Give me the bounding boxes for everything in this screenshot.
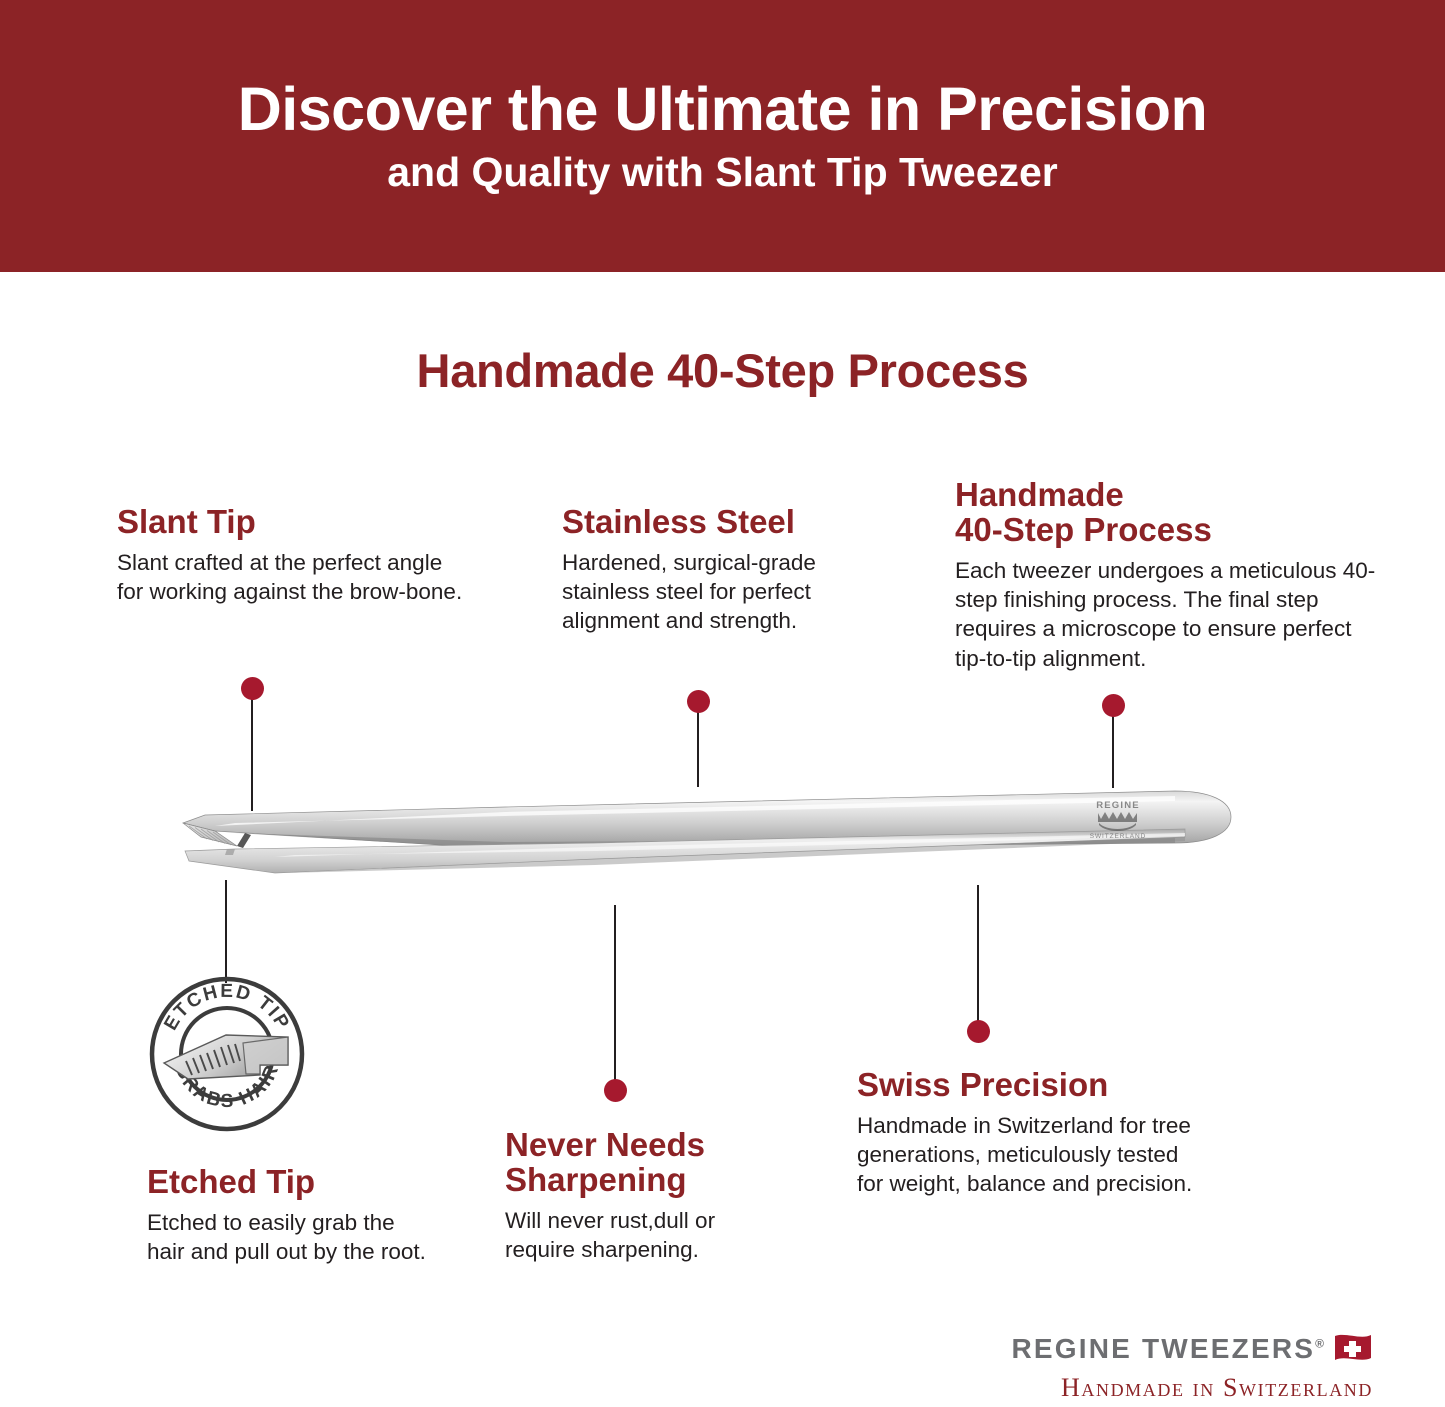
feature-title-line: Slant Tip xyxy=(117,503,256,540)
feature-handmade-40-step-process: Handmade 40-Step Process Each tweezer un… xyxy=(955,478,1385,673)
feature-title-line: Never Needs xyxy=(505,1128,785,1163)
feature-slant-tip: Slant Tip Slant crafted at the perfect a… xyxy=(117,505,467,606)
feature-title-line: 40-Step Process xyxy=(955,513,1385,548)
pointer-dot-stainless-steel xyxy=(687,690,710,713)
pointer-dot-swiss-precision xyxy=(967,1020,990,1043)
brand-logo: REGINE TWEEZERS® Handmade in Switzerland xyxy=(0,1332,1445,1403)
pointer-dot-slant-tip xyxy=(241,677,264,700)
brand-name: REGINE TWEEZERS® xyxy=(1011,1335,1324,1363)
product-image-tweezer: REGINE SWITZERLAND xyxy=(175,785,1235,895)
section-heading: Handmade 40-Step Process xyxy=(0,343,1445,398)
etched-tip-badge: ETCHED TIP GRABS HAIR xyxy=(148,975,306,1133)
brand-name-text: REGINE TWEEZERS xyxy=(1011,1333,1315,1364)
feature-slant-tip-body: Slant crafted at the perfect angle for w… xyxy=(117,548,467,607)
feature-title-line: Etched Tip xyxy=(147,1163,315,1200)
tweezer-tip-seam xyxy=(237,833,251,848)
feature-etched-tip-title: Etched Tip xyxy=(147,1165,427,1200)
header-title: Discover the Ultimate in Precision xyxy=(238,77,1207,142)
feature-title-line: Stainless Steel xyxy=(562,503,795,540)
etched-tip-badge-svg: ETCHED TIP GRABS HAIR xyxy=(148,975,306,1133)
brand-name-row: REGINE TWEEZERS® xyxy=(0,1332,1373,1366)
feature-title-line: Swiss Precision xyxy=(857,1066,1108,1103)
feature-never-needs-sharpening: Never Needs Sharpening Will never rust,d… xyxy=(505,1128,785,1264)
header-banner: Discover the Ultimate in Precision and Q… xyxy=(0,0,1445,272)
feature-title-line: Sharpening xyxy=(505,1163,785,1198)
engraving-brand-text: REGINE xyxy=(1096,800,1140,811)
pointer-line-stainless-steel xyxy=(697,712,699,787)
feature-swiss-precision-body: Handmade in Switzerland for tree generat… xyxy=(857,1111,1197,1199)
pointer-line-handmade xyxy=(1112,716,1114,788)
feature-stainless-steel: Stainless Steel Hardened, surgical-grade… xyxy=(562,505,862,636)
header-subtitle: and Quality with Slant Tip Tweezer xyxy=(387,150,1058,195)
feature-never-sharpening-title: Never Needs Sharpening xyxy=(505,1128,785,1198)
feature-never-sharpening-body: Will never rust,dull or require sharpeni… xyxy=(505,1206,785,1265)
tweezer-svg: REGINE SWITZERLAND xyxy=(175,785,1235,895)
feature-swiss-precision: Swiss Precision Handmade in Switzerland … xyxy=(857,1068,1197,1199)
pointer-line-etched-tip xyxy=(225,880,227,983)
feature-stainless-steel-title: Stainless Steel xyxy=(562,505,862,540)
feature-slant-tip-title: Slant Tip xyxy=(117,505,467,540)
feature-stainless-steel-body: Hardened, surgical-grade stainless steel… xyxy=(562,548,862,636)
registered-mark: ® xyxy=(1315,1337,1324,1351)
pointer-line-swiss-precision xyxy=(977,885,979,1030)
feature-handmade-body: Each tweezer undergoes a meticulous 40-s… xyxy=(955,556,1385,673)
swiss-flag-icon xyxy=(1333,1332,1373,1366)
engraving-country-text: SWITZERLAND xyxy=(1090,833,1147,840)
pointer-line-never-sharpening xyxy=(614,905,616,1085)
feature-title-line: Handmade xyxy=(955,478,1385,513)
feature-swiss-precision-title: Swiss Precision xyxy=(857,1068,1197,1103)
brand-tagline: Handmade in Switzerland xyxy=(0,1373,1373,1403)
feature-etched-tip-body: Etched to easily grab the hair and pull … xyxy=(147,1208,427,1267)
pointer-dot-never-sharpening xyxy=(604,1079,627,1102)
pointer-dot-handmade xyxy=(1102,694,1125,717)
feature-etched-tip: Etched Tip Etched to easily grab the hai… xyxy=(147,1165,427,1266)
feature-handmade-title: Handmade 40-Step Process xyxy=(955,478,1385,548)
